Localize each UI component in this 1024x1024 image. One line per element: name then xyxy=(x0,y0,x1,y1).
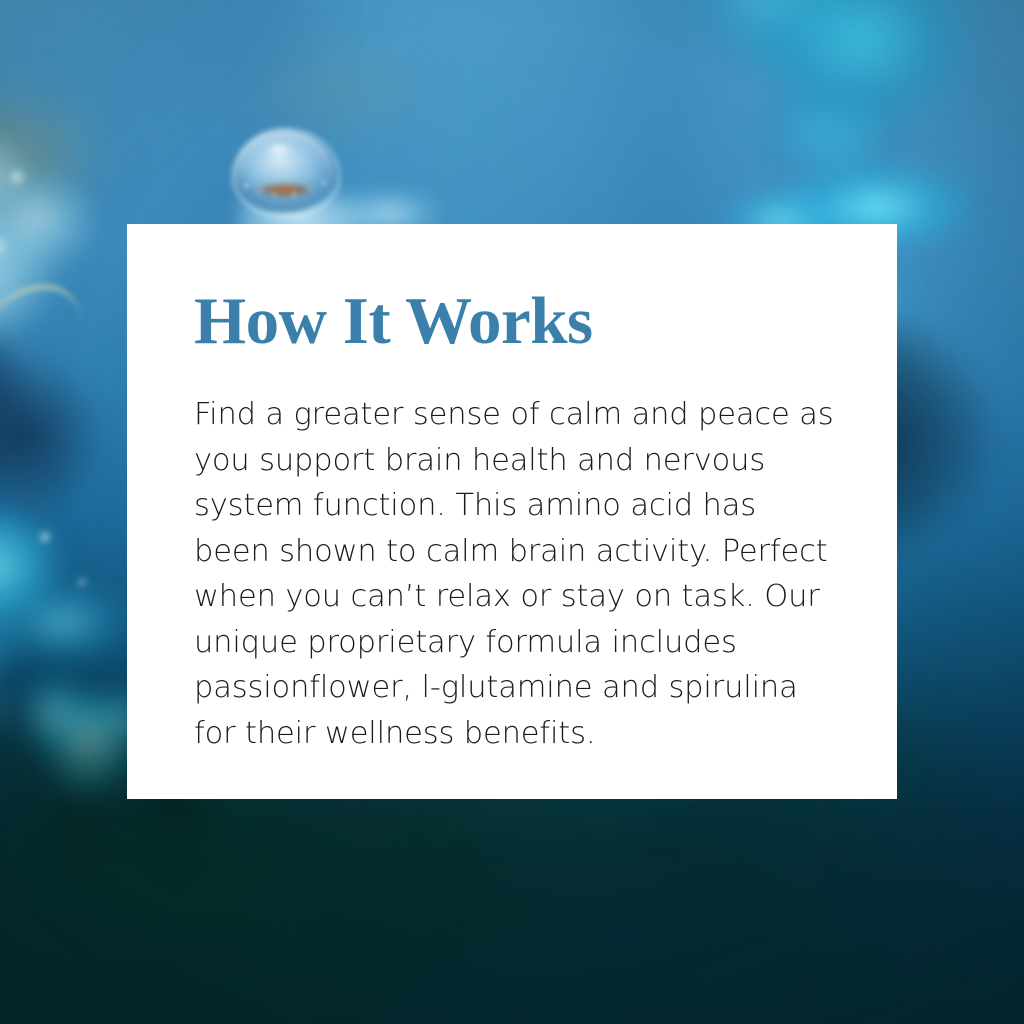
water-droplet-bubbles xyxy=(236,172,334,198)
card-body-text: Find a greater sense of calm and peace a… xyxy=(194,355,839,756)
card-title: How It Works xyxy=(194,288,839,355)
content-card: How It Works Find a greater sense of cal… xyxy=(127,224,897,799)
water-droplet-specular-highlight xyxy=(262,142,296,157)
promo-graphic: How It Works Find a greater sense of cal… xyxy=(0,0,1024,1024)
